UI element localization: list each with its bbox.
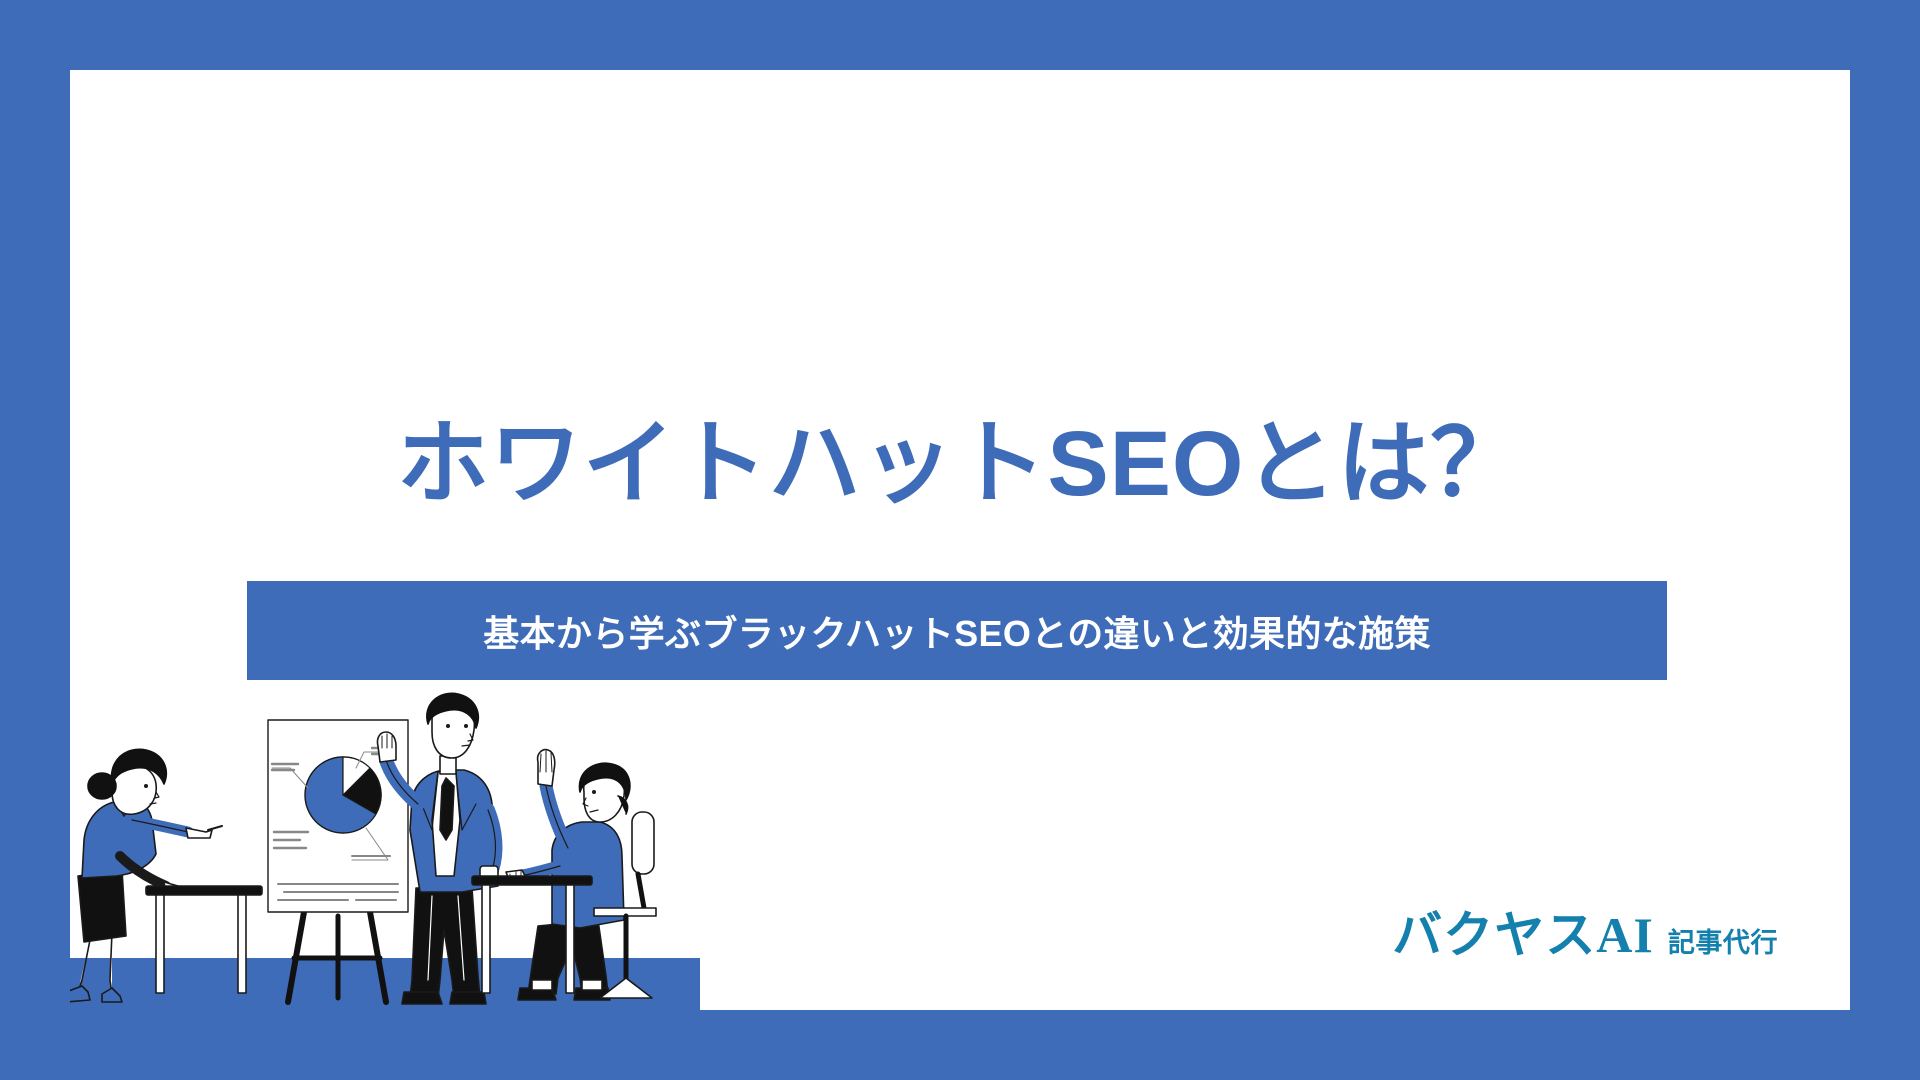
page-title: ホワイトハットSEOとは？ bbox=[70, 412, 1850, 518]
brand-logo: バクヤスAI 記事代行 bbox=[1392, 910, 1778, 960]
slide-white-panel: ホワイトハットSEOとは？ 基本から学ぶブラックハットSEOとの違いと効果的な施… bbox=[70, 70, 1850, 1010]
logo-service-text: 記事代行 bbox=[1668, 930, 1778, 957]
subtitle-text: 基本から学ぶブラックハットSEOとの違いと効果的な施策 bbox=[483, 605, 1431, 657]
slide-root: ホワイトハットSEOとは？ 基本から学ぶブラックハットSEOとの違いと効果的な施… bbox=[0, 0, 1920, 1080]
logo-brand-text: バクヤスAI bbox=[1392, 910, 1654, 960]
subtitle-banner: 基本から学ぶブラックハットSEOとの違いと効果的な施策 bbox=[247, 581, 1667, 680]
illustration-business-team bbox=[70, 680, 700, 1010]
